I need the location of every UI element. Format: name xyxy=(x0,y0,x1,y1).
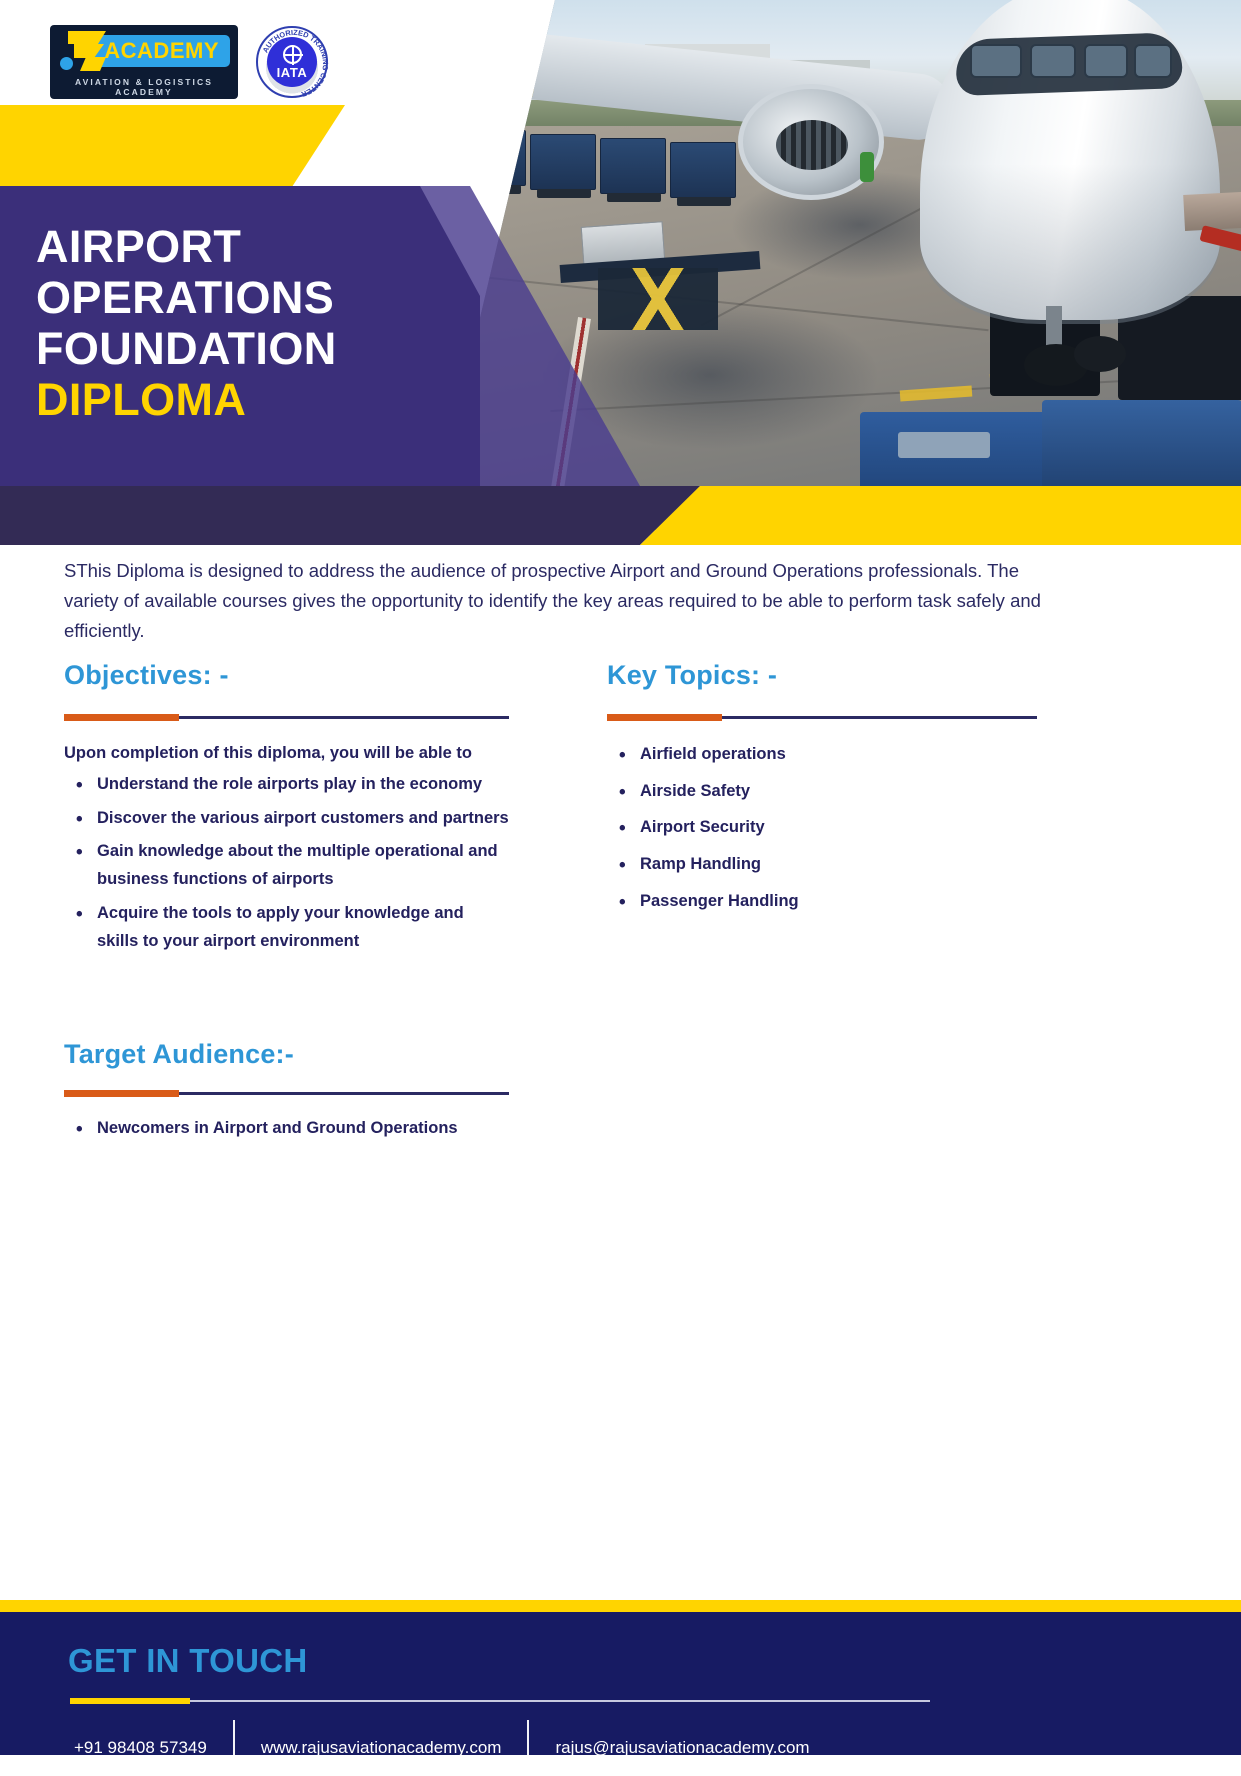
footer-accent-bar xyxy=(0,1600,1241,1612)
list-item: Newcomers in Airport and Ground Operatio… xyxy=(64,1115,509,1143)
key-topics-divider xyxy=(607,716,1037,719)
objectives-list: Understand the role airports play in the… xyxy=(64,771,509,955)
photo-landing-wheel xyxy=(1074,336,1126,372)
footer-separator xyxy=(233,1720,235,1776)
left-column: Objectives: - Upon completion of this di… xyxy=(64,660,509,1149)
list-item: Airport Security xyxy=(607,814,1037,842)
objectives-divider xyxy=(64,716,509,719)
list-item: Ramp Handling xyxy=(607,851,1037,879)
list-item: Gain knowledge about the multiple operat… xyxy=(64,838,509,893)
photo-aircraft xyxy=(748,0,1241,414)
target-audience-list: Newcomers in Airport and Ground Operatio… xyxy=(64,1115,509,1143)
list-item: Acquire the tools to apply your knowledg… xyxy=(64,900,509,955)
target-audience-heading: Target Audience:- xyxy=(64,1039,509,1070)
photo-scissor-lift xyxy=(598,268,718,330)
footer-phone[interactable]: +91 98408 57349 xyxy=(70,1738,233,1758)
logo-tagline: AVIATION & LOGISTICS ACADEMY xyxy=(50,71,238,97)
key-topics-heading: Key Topics: - xyxy=(607,660,1037,691)
footer-website[interactable]: www.rajusaviationacademy.com xyxy=(235,1738,528,1758)
photo-cockpit-window xyxy=(1084,44,1128,78)
list-item: Passenger Handling xyxy=(607,888,1037,916)
key-topics-section: Key Topics: - Airfield operations Airsid… xyxy=(607,660,1037,916)
title-line-3: FOUNDATION xyxy=(36,324,337,375)
photo-cockpit-window xyxy=(1030,44,1076,78)
list-item: Understand the role airports play in the… xyxy=(64,771,509,799)
photo-cockpit-window xyxy=(970,44,1022,78)
title-line-2: OPERATIONS xyxy=(36,273,337,324)
footer-title: GET IN TOUCH xyxy=(68,1642,308,1680)
footer-contacts: +91 98408 57349 www.rajusaviationacademy… xyxy=(70,1720,836,1776)
logo-word: ACADEMY xyxy=(93,35,230,67)
key-topics-list: Airfield operations Airside Safety Airpo… xyxy=(607,741,1037,916)
list-item: Discover the various airport customers a… xyxy=(64,805,509,833)
photo-ground-worker xyxy=(860,152,874,182)
header-bottom-bar-left xyxy=(0,486,700,545)
header-bottom-bar-right xyxy=(640,486,1241,545)
photo-tug-window xyxy=(898,432,990,458)
footer: GET IN TOUCH +91 98408 57349 www.rajusav… xyxy=(0,1600,1241,1755)
objectives-heading: Objectives: - xyxy=(64,660,509,691)
iata-globe-icon xyxy=(283,45,302,64)
photo-building xyxy=(430,66,488,92)
footer-separator xyxy=(527,1720,529,1776)
header-banner: AIRPORT OPERATIONS FOUNDATION DIPLOMA AC… xyxy=(0,0,1241,545)
list-item: Airfield operations xyxy=(607,741,1037,769)
photo-ground-marking xyxy=(516,88,534,97)
right-column: Key Topics: - Airfield operations Airsid… xyxy=(607,660,1037,925)
intro-paragraph: SThis Diploma is designed to address the… xyxy=(64,556,1044,646)
header-yellow-band xyxy=(0,105,345,190)
photo-engine-core xyxy=(776,120,848,170)
target-audience-section: Target Audience:- Newcomers in Airport a… xyxy=(64,1039,509,1143)
list-item: Airside Safety xyxy=(607,778,1037,806)
photo-aircraft-shading xyxy=(920,164,1220,324)
brand-logo-group[interactable]: ACADEMY AVIATION & LOGISTICS ACADEMY AUT… xyxy=(50,25,328,99)
r-logo-icon xyxy=(60,31,87,71)
photo-cockpit-window xyxy=(1134,44,1172,78)
page-title: AIRPORT OPERATIONS FOUNDATION DIPLOMA xyxy=(36,222,337,425)
iata-badge: AUTHORIZED TRAINING CENTER IATA xyxy=(256,26,328,98)
title-highlight-diploma: DIPLOMA xyxy=(36,375,337,426)
footer-email[interactable]: rajus@rajusaviationacademy.com xyxy=(529,1738,835,1758)
academy-logo[interactable]: ACADEMY AVIATION & LOGISTICS ACADEMY xyxy=(50,25,238,99)
objectives-lead: Upon completion of this diploma, you wil… xyxy=(64,744,509,763)
objectives-section: Objectives: - Upon completion of this di… xyxy=(64,660,509,955)
title-line-1: AIRPORT xyxy=(36,222,337,273)
target-audience-divider xyxy=(64,1092,509,1095)
footer-divider xyxy=(70,1700,930,1702)
